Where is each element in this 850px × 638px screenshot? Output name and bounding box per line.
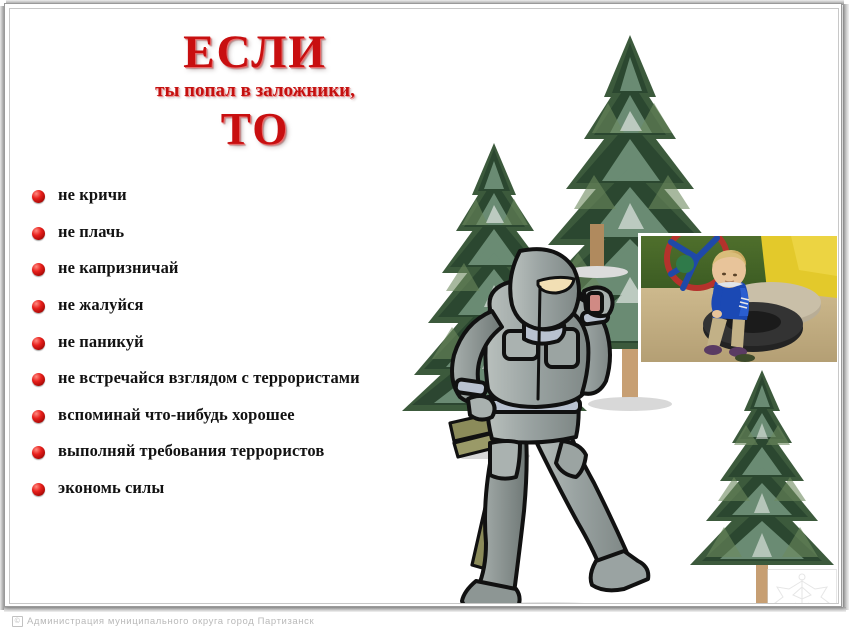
list-item: не кричи [32,185,442,206]
slide-content-area: ЕСЛИ ты попал в заложники, ТО не кричи н… [10,9,838,603]
list-item-label: вспоминай что-нибудь хорошее [58,405,295,426]
title-line-subtitle: ты попал в заложники, [100,77,410,106]
list-item-label: не кричи [58,185,127,206]
list-item: не встречайся взглядом с террористами [32,368,362,389]
footer-watermark: © Администрация муниципального округа го… [12,616,314,627]
list-item-label: экономь силы [58,478,164,499]
photo-child-on-tire [638,233,838,365]
list-item: выполняй требования террористов [32,441,442,462]
list-item-label: не паникуй [58,332,144,353]
title-line-eslif: ЕСЛИ [100,29,410,77]
list-item: вспоминай что-нибудь хорошее [32,405,442,426]
bullet-dot-icon [32,190,45,203]
copyright-icon: © [12,616,23,627]
list-item: не капризничай [32,258,442,279]
bullet-dot-icon [32,337,45,350]
coat-of-arms-watermark-icon [767,569,837,603]
frame-shadow-right [843,4,849,610]
bullet-dot-icon [32,446,45,459]
masked-armed-man-figure [428,247,660,603]
list-item-label: не плачь [58,222,124,243]
bullet-dot-icon [32,300,45,313]
title-block: ЕСЛИ ты попал в заложники, ТО [100,29,410,155]
bullet-dot-icon [32,227,45,240]
list-item: экономь силы [32,478,442,499]
bullet-dot-icon [32,483,45,496]
list-item-label: не встречайся взглядом с террористами [58,368,360,389]
list-item: не плачь [32,222,442,243]
title-line-to: ТО [100,105,410,155]
frame-shadow-bottom [4,607,846,612]
list-item: не жалуйся [32,295,442,316]
footer-watermark-text: Администрация муниципального округа горо… [27,616,314,627]
spruce-tree-front-right [676,367,838,603]
advice-list: не кричи не плачь не капризничай не жалу… [32,185,442,515]
slide-canvas: ЕСЛИ ты попал в заложники, ТО не кричи н… [0,0,850,638]
bullet-dot-icon [32,263,45,276]
bullet-dot-icon [32,410,45,423]
list-item-label: выполняй требования террористов [58,441,324,462]
list-item-label: не жалуйся [58,295,144,316]
list-item: не паникуй [32,332,442,353]
bullet-dot-icon [32,373,45,386]
list-item-label: не капризничай [58,258,179,279]
